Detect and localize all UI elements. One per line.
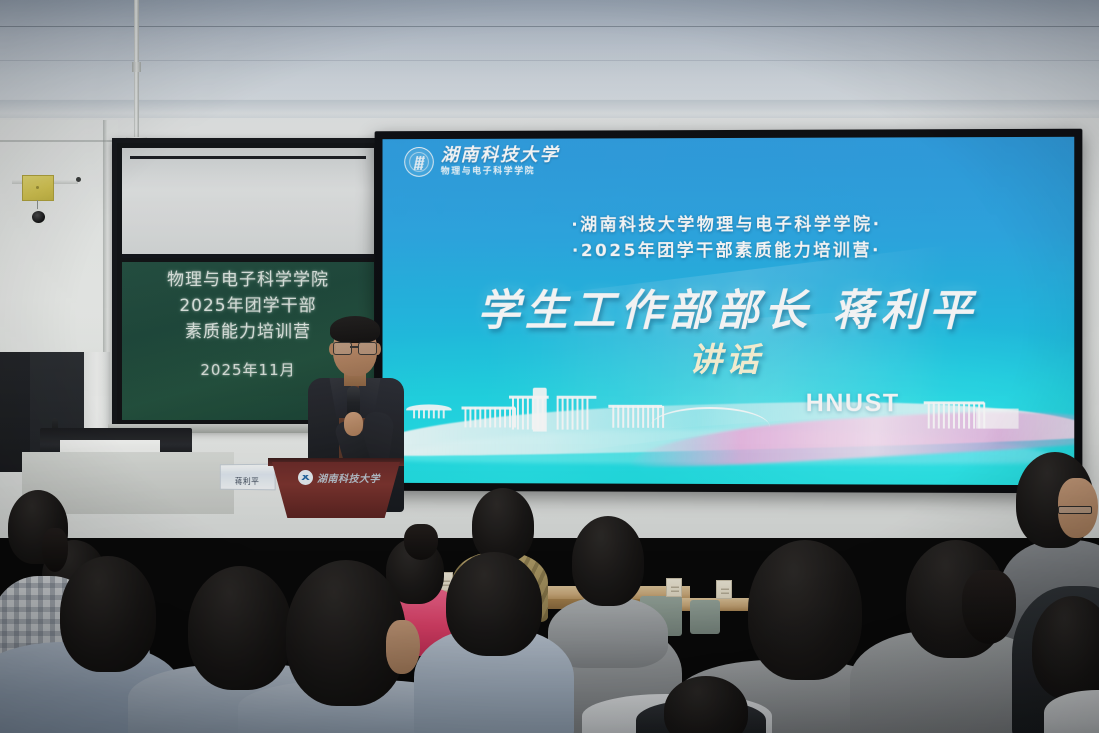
projector-screen[interactable]: 湖南科技大学 物理与电子科学学院 ·湖南科技大学物理与电子科学学院· ·2025…	[375, 129, 1083, 494]
hnust-logo-icon	[298, 470, 313, 485]
slide-subtitle-2: ·2025年团学干部素质能力培训营·	[383, 235, 1075, 261]
audience-head	[572, 516, 644, 606]
building-silhouette	[512, 398, 544, 430]
presentation-slide: 湖南科技大学 物理与电子科学学院 ·湖南科技大学物理与电子科学学院· ·2025…	[383, 137, 1075, 485]
building-roof	[557, 396, 597, 399]
glasses-icon	[332, 342, 378, 353]
building-roof	[461, 406, 514, 409]
slide-logo-school: 物理与电子科学学院	[441, 167, 560, 176]
slide-campus-graphic: HNUST	[383, 385, 1075, 459]
audience-hair	[962, 570, 1016, 644]
building-roof	[509, 396, 549, 399]
lecture-hall-photo: 物理与电子科学学院 2025年团学干部 素质能力培训营 2025年11月 湖南科…	[0, 0, 1099, 733]
slide-title-main: 学生工作部部长 蒋利平	[383, 276, 1075, 338]
university-seal-icon	[404, 147, 434, 177]
glasses-icon	[1058, 506, 1092, 514]
name-card-label: 蒋利平	[235, 476, 260, 487]
audience-head	[446, 552, 542, 656]
speaker-hand-holding-mic	[344, 412, 363, 436]
whiteboard-panel	[122, 148, 374, 258]
lectern-logo-label: 湖南科技大学	[317, 470, 380, 485]
slide-wordmark: HNUST	[806, 389, 900, 418]
power-outlet-icon	[666, 578, 682, 597]
ceiling-seam	[0, 60, 1099, 61]
chalk-line-1: 物理与电子科学学院	[122, 268, 374, 294]
pagoda-silhouette-icon	[406, 404, 451, 418]
speaker-hair	[330, 316, 380, 343]
slide-logo-text: 湖南科技大学 物理与电子科学学院	[441, 147, 560, 177]
slide-logo-university: 湖南科技大学	[441, 147, 560, 165]
slide-title-secondary: 讲话	[383, 333, 1075, 382]
building-roof	[924, 401, 985, 404]
building-silhouette	[976, 408, 1018, 428]
audience-head	[472, 488, 534, 562]
audience-head	[188, 566, 292, 690]
electrical-box-screw	[36, 186, 39, 189]
building-silhouette	[557, 398, 589, 430]
glasses-bridge	[350, 346, 358, 348]
audience-hair	[42, 528, 68, 572]
audience-head	[748, 540, 862, 680]
slide-subtitle-1: ·湖南科技大学物理与电子科学学院·	[383, 209, 1075, 235]
sprinkler-pipe-joint	[132, 62, 141, 72]
power-outlet-icon	[716, 580, 732, 599]
whiteboard-rail	[130, 156, 366, 159]
audience-head	[1032, 596, 1099, 700]
ceiling-seam	[0, 26, 1099, 27]
chair-back	[690, 600, 720, 634]
lectern-logo: 湖南科技大学	[298, 470, 380, 485]
building-roof	[609, 405, 663, 408]
audience-hair	[404, 524, 438, 560]
wall-fastener	[76, 177, 81, 182]
audience-head	[60, 556, 156, 672]
slide-university-logo: 湖南科技大学 物理与电子科学学院	[404, 147, 559, 177]
alarm-bell-icon	[30, 209, 47, 225]
name-card: 蒋利平	[220, 464, 276, 491]
building-silhouette	[465, 407, 516, 427]
